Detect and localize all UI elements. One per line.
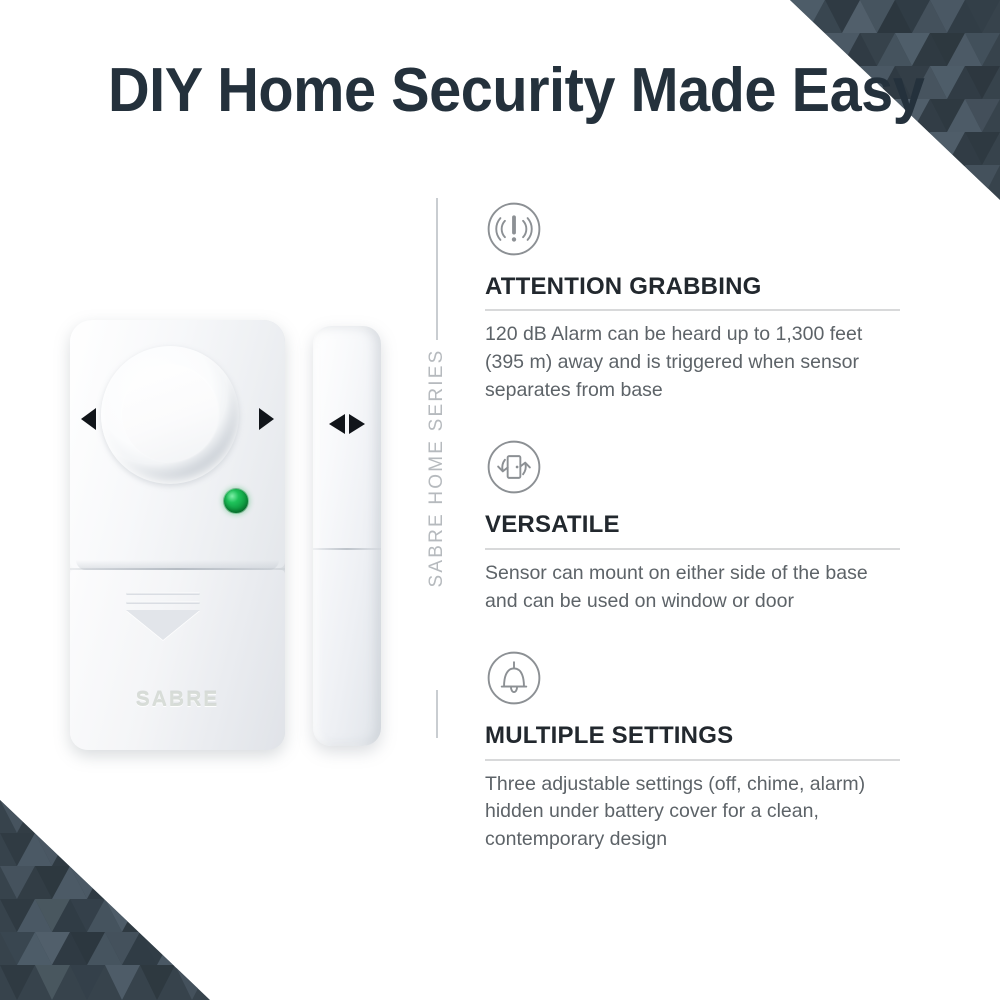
corner-decoration-bottom-left — [0, 800, 210, 1000]
feature-heading: ATTENTION GRABBING — [485, 274, 900, 300]
double-arrow-right — [349, 414, 365, 434]
feature-multiple-settings: MULTIPLE SETTINGS Three adjustable setti… — [485, 649, 900, 853]
feature-body: 120 dB Alarm can be heard up to 1,300 fe… — [485, 321, 900, 404]
alarm-dial — [101, 346, 239, 484]
bell-icon-glyph — [485, 649, 543, 707]
double-arrow-marker-icon — [329, 414, 365, 434]
chevron-line-top — [126, 592, 200, 595]
sensor-bar-seam — [313, 548, 381, 550]
chevron-down-icon — [126, 610, 200, 640]
alarm-unit-front-panel — [70, 320, 285, 568]
rail-line-bottom — [436, 690, 438, 738]
door-rotate-icon-glyph — [485, 438, 543, 496]
brand-emboss-logo: SABRE — [70, 688, 285, 712]
door-rotate-icon — [485, 438, 543, 496]
feature-rule — [485, 548, 900, 550]
feature-rule — [485, 309, 900, 311]
feature-heading: VERSATILE — [485, 512, 900, 538]
series-rail: SABRE HOME SERIES — [419, 198, 455, 738]
alarm-unit-body: SABRE — [70, 320, 285, 750]
feature-heading: MULTIPLE SETTINGS — [485, 723, 900, 749]
feature-body: Three adjustable settings (off, chime, a… — [485, 771, 900, 854]
series-label: SABRE HOME SERIES — [426, 348, 448, 587]
feature-body: Sensor can mount on either side of the b… — [485, 560, 900, 615]
left-arrow-marker-icon — [81, 408, 96, 430]
triangle-pattern-bottom-left — [0, 800, 210, 1000]
feature-rule — [485, 759, 900, 761]
rail-line-top — [436, 198, 438, 340]
feature-attention-grabbing: ATTENTION GRABBING 120 dB Alarm can be h… — [485, 200, 900, 404]
feature-list: ATTENTION GRABBING 120 dB Alarm can be h… — [485, 200, 900, 888]
status-led — [223, 488, 249, 514]
bell-icon — [485, 649, 543, 707]
right-arrow-marker-icon — [259, 408, 274, 430]
battery-cover: SABRE — [70, 570, 285, 750]
alert-sound-icon-glyph — [485, 200, 543, 258]
sensor-magnet-bar — [313, 326, 381, 746]
alert-sound-icon — [485, 200, 543, 258]
feature-versatile: VERSATILE Sensor can mount on either sid… — [485, 438, 900, 615]
product-image: SABRE — [55, 300, 405, 780]
double-arrow-left — [329, 414, 345, 434]
battery-cover-chevron-icon — [118, 590, 208, 636]
chevron-line-bottom — [126, 601, 200, 604]
page-title: DIY Home Security Made Easy — [108, 58, 871, 123]
